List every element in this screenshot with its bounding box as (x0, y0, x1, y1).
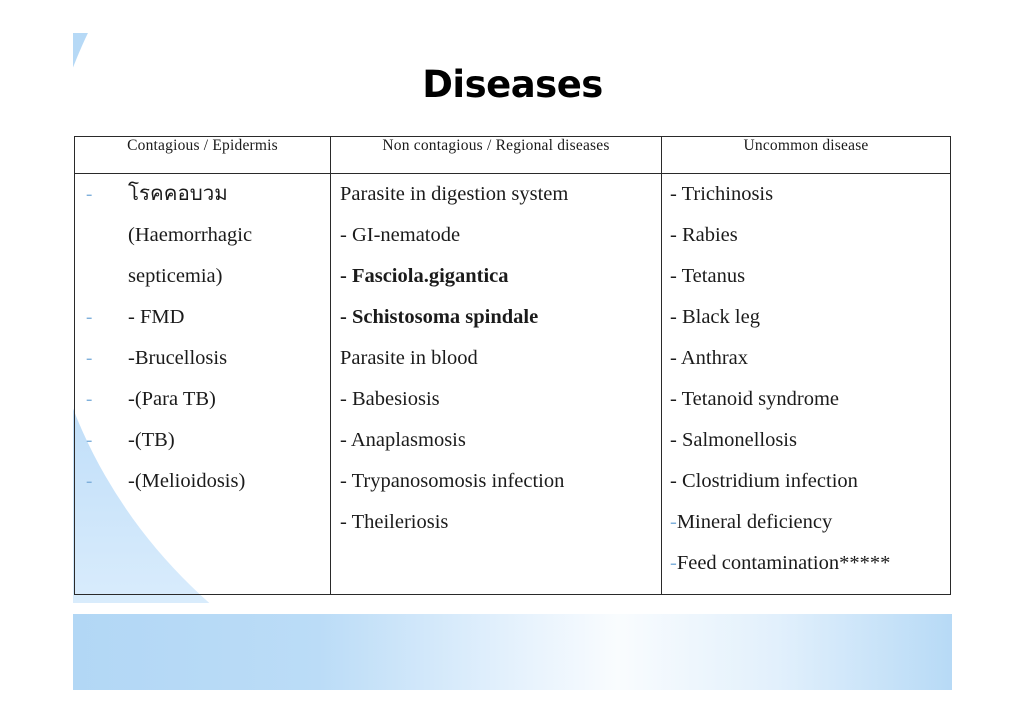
list-item-label: - Clostridium infection (670, 461, 858, 502)
slide-background-gap (73, 603, 952, 614)
diseases-table: Contagious / Epidermis Non contagious / … (74, 136, 951, 595)
list-item-label: - Rabies (670, 215, 738, 256)
list-bullet-dash: - (75, 174, 115, 215)
list-contagious-epidermis: -โรคคอบวม(Haemorrhagicsepticemia)-- FMD-… (75, 174, 330, 502)
list-item: --(Para TB) (75, 379, 330, 420)
list-item: - Theileriosis (331, 502, 661, 543)
list-item-label: - FMD (115, 297, 184, 338)
table-body-row: -โรคคอบวม(Haemorrhagicsepticemia)-- FMD-… (75, 174, 951, 595)
list-bullet-dash: - (670, 543, 677, 584)
list-item: - Black leg (662, 297, 950, 338)
list-item: - GI-nematode (331, 215, 661, 256)
list-item-label: - Trypanosomosis infection (340, 461, 564, 502)
list-item-label: - Schistosoma spindale (340, 297, 538, 338)
column-header-contagious-epidermis: Contagious / Epidermis (75, 137, 331, 174)
list-item: --(Melioidosis) (75, 461, 330, 502)
list-item-label: - GI-nematode (340, 215, 460, 256)
list-item: - Tetanoid syndrome (662, 379, 950, 420)
slide-canvas: Diseases Contagious / Epidermis Non cont… (0, 0, 1024, 724)
list-item: - Salmonellosis (662, 420, 950, 461)
list-non-contagious-regional: Parasite in digestion system- GI-nematod… (331, 174, 661, 543)
list-item-label: -Brucellosis (115, 338, 227, 379)
list-item-label: - Anaplasmosis (340, 420, 466, 461)
list-item-label: - Theileriosis (340, 502, 448, 543)
list-item-label: - Fasciola.gigantica (340, 256, 509, 297)
list-item: - Tetanus (662, 256, 950, 297)
list-item-label: -(TB) (115, 420, 175, 461)
list-bullet-dash: - (75, 461, 115, 502)
list-item-label: - Tetanoid syndrome (670, 379, 839, 420)
list-item: - Rabies (662, 215, 950, 256)
list-item-label: -(Para TB) (115, 379, 216, 420)
list-item: - Trichinosis (662, 174, 950, 215)
list-item: - Fasciola.gigantica (331, 256, 661, 297)
list-item: Parasite in digestion system (331, 174, 661, 215)
list-item-label: Parasite in digestion system (340, 174, 568, 215)
list-item-label: Feed contamination***** (677, 543, 891, 584)
list-item: - Clostridium infection (662, 461, 950, 502)
page-title: Diseases (73, 62, 952, 108)
list-item: septicemia) (75, 256, 330, 297)
table-header-row: Contagious / Epidermis Non contagious / … (75, 137, 951, 174)
list-item: -- FMD (75, 297, 330, 338)
list-item-label: - Babesiosis (340, 379, 440, 420)
list-bullet-dash: - (75, 379, 115, 420)
list-item-label: (Haemorrhagic (115, 215, 252, 256)
column-header-non-contagious-regional: Non contagious / Regional diseases (331, 137, 662, 174)
list-uncommon-disease: - Trichinosis- Rabies- Tetanus- Black le… (662, 174, 950, 584)
list-item: -โรคคอบวม (75, 174, 330, 215)
list-item: -Mineral deficiency (662, 502, 950, 543)
cell-uncommon-disease: - Trichinosis- Rabies- Tetanus- Black le… (662, 174, 951, 595)
list-item: - Babesiosis (331, 379, 661, 420)
list-item-label: Mineral deficiency (677, 502, 832, 543)
list-item: - Anaplasmosis (331, 420, 661, 461)
list-item-label: - Black leg (670, 297, 760, 338)
list-bullet-dash: - (75, 297, 115, 338)
list-bullet-dash: - (670, 502, 677, 543)
list-item-label: septicemia) (115, 256, 222, 297)
list-item: - Trypanosomosis infection (331, 461, 661, 502)
list-item-label: - Anthrax (670, 338, 748, 379)
list-bullet-dash: - (75, 338, 115, 379)
column-header-uncommon-disease: Uncommon disease (662, 137, 951, 174)
slide-background-bottom-band (73, 614, 952, 690)
list-item: --(TB) (75, 420, 330, 461)
cell-contagious-epidermis: -โรคคอบวม(Haemorrhagicsepticemia)-- FMD-… (75, 174, 331, 595)
list-item-label: - Tetanus (670, 256, 745, 297)
list-item-label: -(Melioidosis) (115, 461, 245, 502)
list-item: - Schistosoma spindale (331, 297, 661, 338)
list-item: Parasite in blood (331, 338, 661, 379)
list-item-label: โรคคอบวม (115, 174, 228, 215)
list-item-label: Parasite in blood (340, 338, 478, 379)
list-item: -Feed contamination***** (662, 543, 950, 584)
list-item-label: - Trichinosis (670, 174, 773, 215)
cell-non-contagious-regional: Parasite in digestion system- GI-nematod… (331, 174, 662, 595)
list-item-label: - Salmonellosis (670, 420, 797, 461)
list-bullet-dash: - (75, 420, 115, 461)
list-item: (Haemorrhagic (75, 215, 330, 256)
list-item: --Brucellosis (75, 338, 330, 379)
list-item: - Anthrax (662, 338, 950, 379)
